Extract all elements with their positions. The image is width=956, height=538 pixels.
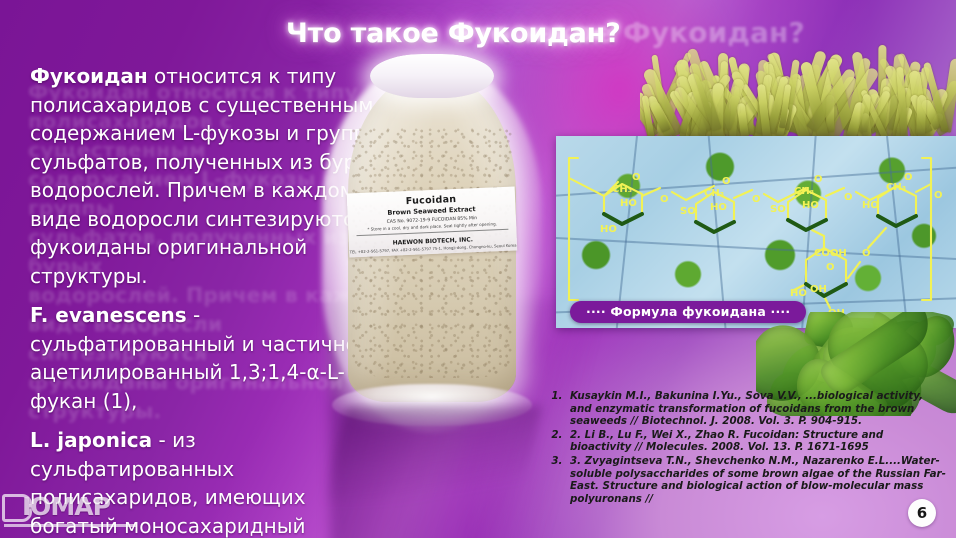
presentation-slide: Фукоидан относится к типу полисахаридов …: [0, 0, 956, 538]
body-text-column: Фукоидан относится к типу полисахаридов …: [30, 62, 386, 538]
formula-caption: ···· Формула фукоидана ····: [570, 301, 806, 323]
paragraph-1-text: относится к типу полисахаридов с существ…: [30, 64, 384, 288]
svg-text:CH₃: CH₃: [886, 182, 906, 193]
fucoidan-structure-diagram: CH₃OHOHO OSO CH₃OHO OSO CH₃OHO OHO CH₃O …: [556, 136, 956, 328]
svg-text:CH₃: CH₃: [794, 186, 814, 197]
references-list: Kusaykin M.I., Bakunina I.Yu., Sova V.V.…: [536, 390, 946, 506]
svg-text:CH₃: CH₃: [704, 188, 724, 199]
svg-text:HO: HO: [710, 202, 727, 213]
svg-text:O: O: [844, 192, 853, 203]
svg-text:SO: SO: [770, 204, 786, 215]
svg-text:HO: HO: [862, 200, 879, 211]
paragraph-2-lead: F. evanescens: [30, 303, 187, 327]
svg-text:OH: OH: [828, 308, 845, 319]
paragraph-3: L. japonica - из сульфатированных полиса…: [30, 426, 386, 538]
svg-text:OH: OH: [810, 284, 827, 295]
svg-text:HO: HO: [600, 224, 617, 235]
svg-text:O: O: [862, 248, 871, 259]
svg-text:O: O: [752, 194, 761, 205]
svg-text:COOH: COOH: [814, 248, 847, 259]
svg-text:O: O: [814, 174, 823, 185]
paragraph-1: Фукоидан относится к типу полисахаридов …: [30, 62, 386, 290]
svg-text:HO: HO: [790, 288, 807, 299]
page-title: Что такое Фукоидан?: [286, 18, 621, 49]
svg-text:O: O: [904, 172, 913, 183]
paragraph-2: F. evanescens - сульфатированный и части…: [30, 301, 386, 415]
svg-text:CH₃: CH₃: [612, 184, 632, 195]
svg-text:O: O: [660, 194, 669, 205]
reference-item: Kusaykin M.I., Bakunina I.Yu., Sova V.V.…: [566, 390, 946, 428]
svg-text:HO: HO: [620, 198, 637, 209]
reference-item: 2. Li B., Lu F., Wei X., Zhao R. Fucoida…: [566, 429, 946, 454]
paragraph-3-lead: L. japonica: [30, 428, 152, 452]
page-number-badge: 6: [908, 499, 936, 527]
svg-text:O: O: [722, 176, 731, 187]
reference-item: 3. Zvyagintseva T.N., Shevchenko N.M., N…: [566, 455, 946, 505]
svg-text:HO: HO: [802, 200, 819, 211]
svg-text:O: O: [632, 172, 641, 183]
svg-text:O: O: [934, 190, 943, 201]
paragraph-1-lead: Фукоидан: [30, 64, 148, 88]
svg-text:O: O: [826, 262, 835, 273]
fucoidan-formula-panel: CH₃OHOHO OSO CH₃OHO OSO CH₃OHO OHO CH₃O …: [556, 136, 956, 328]
svg-text:SO: SO: [680, 206, 696, 217]
